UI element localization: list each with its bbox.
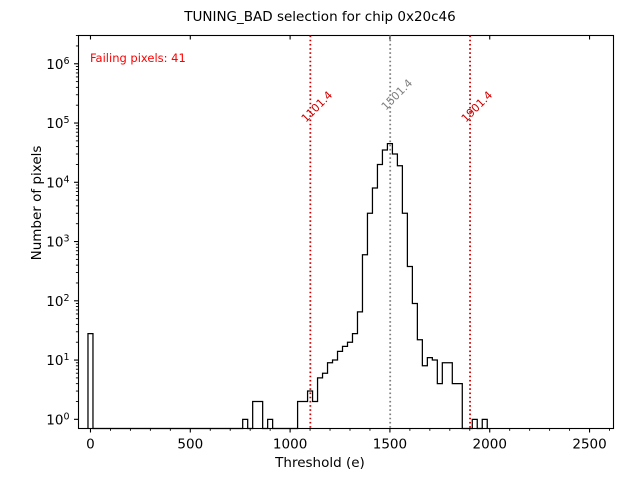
y-tick-label: 106	[46, 55, 69, 73]
x-tick-label: 1000	[273, 437, 307, 453]
histogram-steps	[88, 144, 487, 429]
plot-area: 0500100015002000250010010110210310410510…	[0, 0, 640, 480]
histogram-svg: 0500100015002000250010010110210310410510…	[0, 0, 640, 480]
tick-labels: 0500100015002000250010010110210310410510…	[46, 55, 606, 452]
x-tick-label: 0	[86, 437, 95, 453]
y-tick-label: 102	[46, 292, 69, 310]
axes-group	[74, 36, 614, 433]
y-tick-label: 101	[46, 352, 69, 370]
x-tick-label: 500	[177, 437, 203, 453]
y-tick-label: 104	[46, 174, 69, 192]
x-tick-label: 1500	[373, 437, 407, 453]
y-tick-label: 105	[46, 115, 69, 133]
figure-canvas: TUNING_BAD selection for chip 0x20c46 Nu…	[0, 0, 640, 480]
x-tick-label: 2000	[473, 437, 507, 453]
y-tick-label: 100	[46, 411, 69, 429]
y-tick-label: 103	[46, 233, 69, 251]
histogram-step-line	[88, 144, 487, 429]
x-tick-label: 2500	[572, 437, 606, 453]
plot-frame	[79, 36, 614, 429]
failing-pixels-annotation: Failing pixels: 41	[90, 51, 186, 65]
